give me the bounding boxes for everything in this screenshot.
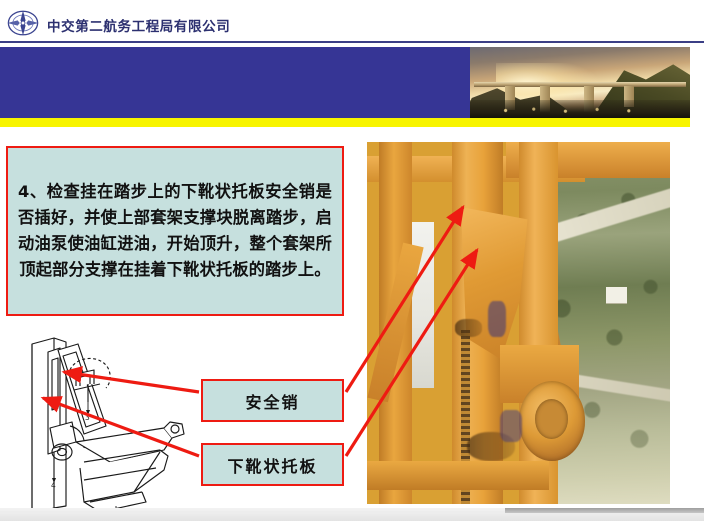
callout-safety-pin: 安全销: [201, 379, 344, 422]
bottom-band-light: [0, 511, 505, 514]
company-name: 中交第二航务工程局有限公司: [47, 15, 230, 35]
callout-support-plate: 下靴状托板: [201, 443, 344, 486]
instruction-text: 4、检查挂在踏步上的下靴状托板安全销是否插好，并使上部套架支撑块脱离踏步，启动油…: [8, 179, 342, 284]
bottom-band-shadow: [505, 508, 704, 513]
callout-support-plate-label: 下靴状托板: [227, 453, 317, 477]
compass-star-logo-icon: [6, 10, 40, 36]
equipment-photograph: [367, 142, 670, 504]
callout-safety-pin-label: 安全销: [245, 389, 299, 413]
slide-header: 中交第二航务工程局有限公司: [0, 0, 704, 43]
banner-bridge-photo: [470, 47, 690, 118]
instruction-text-box: 4、检查挂在踏步上的下靴状托板安全销是否插好，并使上部套架支撑块脱离踏步，启动油…: [6, 146, 344, 316]
part-number-4: 4: [51, 481, 56, 490]
header-divider: [0, 41, 704, 43]
climbing-bracket-line-drawing: 3 4 1: [14, 330, 224, 518]
part-number-3: 3: [85, 413, 90, 422]
yellow-accent-stripe: [0, 118, 690, 127]
